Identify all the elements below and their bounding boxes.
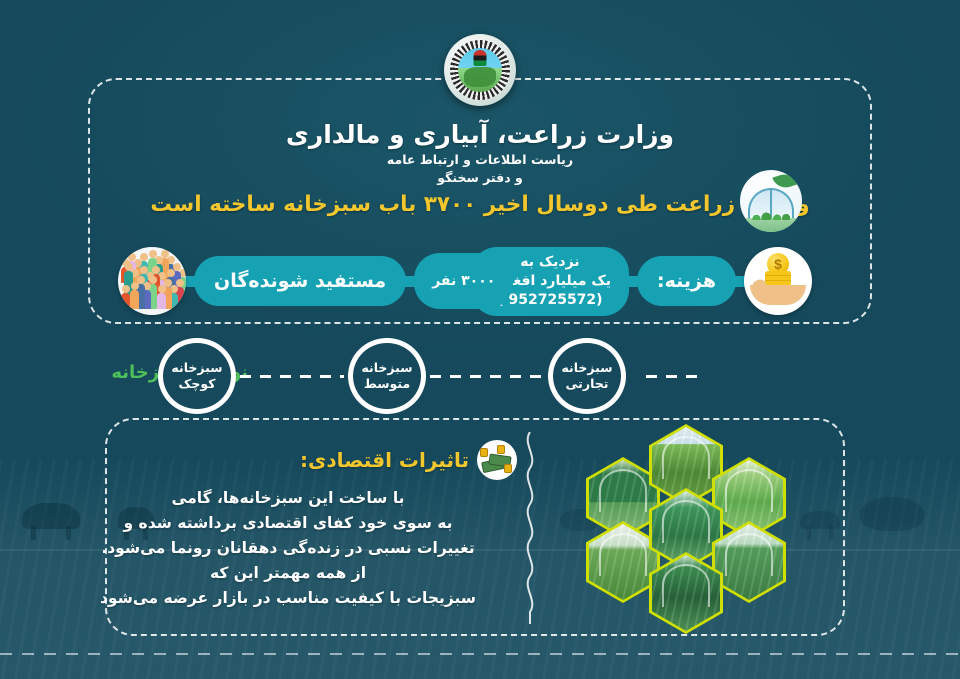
hand-shape [750,285,806,305]
greenhouse-photo-bottom-right [712,521,786,603]
coin-shape [504,464,512,473]
impact-line: از همه مهمتر این که [78,561,498,586]
cost-label: هزینه: [637,256,736,306]
impact-line: به سوی خود کفای اقتصادی برداشته شده و [78,511,498,536]
greenhouse-type-small[interactable]: سبزخانه کوچک [158,338,236,414]
photo-image [589,524,657,600]
background-tree-silhouette [860,497,924,531]
emblem-wheat-ring [450,40,510,100]
type-line-1: سبزخانه [561,360,612,376]
type-line-1: سبزخانه [171,360,222,376]
photo-image [715,524,783,600]
person-figure [121,293,130,309]
dashed-connector [646,375,698,378]
money-bundle-icon [477,440,517,480]
coin-shape [480,448,488,457]
cost-value-line-1: نزدیک به [520,253,579,272]
ministry-emblem-icon [444,34,516,106]
beneficiaries-value: ۳۰۰۰ نفر [414,253,513,309]
dashed-connector [240,375,344,378]
type-line-2: تجارتی [566,376,609,392]
person-figure [130,290,139,309]
headline: وزارت زراعت طی دوسال اخیر ۳۷۰۰ باب سبزخا… [0,192,960,217]
stat-row-beneficiaries: ۳۰۰۰ نفر مستفید شونده‌گان [118,247,513,315]
beneficiaries-label: مستفید شونده‌گان [194,256,406,306]
infographic-canvas: وزارت زراعت، آبیاری و مالداری ریاست اطلا… [0,0,960,679]
impact-body: با ساخت این سبزخانه‌ها، گامی به سوی خود … [78,486,498,612]
greenhouse-icon [740,170,802,232]
stat-row-cost: $ هزینه: نزدیک به یک میلیارد افغانی ( 95… [471,247,812,316]
impact-heading: تاثیرات اقتصادی: [300,440,517,480]
type-line-2: کوچک [179,376,216,392]
dashed-connector [430,375,542,378]
background-cow-silhouette [22,503,80,529]
type-line-2: متوسط [364,376,410,392]
plants-shape [752,208,790,220]
impact-line: سبزیجات با کیفیت مناسب در بازار عرضه می‌… [78,586,498,611]
header-block: وزارت زراعت، آبیاری و مالداری ریاست اطلا… [0,120,960,185]
ground-shape [740,218,802,232]
department-line-1: ریاست اطلاعات و ارتباط عامه [0,152,960,167]
department-line-2: و دفتر سخنگو [0,170,960,185]
impact-title: تاثیرات اقتصادی: [300,448,469,472]
impact-line: تغییرات نسبی در زنده‌گی دهقانان رونما می… [78,536,498,561]
greenhouse-photo-bottom [649,552,723,634]
greenhouse-type-row: نوعیت سبزخانه سبزخانه تجارتی سبزخانه متو… [0,338,960,414]
bottom-dashed-strip [0,653,960,655]
impact-line: با ساخت این سبزخانه‌ها، گامی [78,486,498,511]
greenhouse-type-commercial[interactable]: سبزخانه تجارتی [548,338,626,414]
crowd-of-people-icon [118,247,186,315]
emblem-core [458,48,502,92]
coin-shape [497,445,505,454]
emblem-map [464,67,496,87]
wavy-divider-icon [520,432,540,624]
greenhouse-photo-bottom-left [586,521,660,603]
emblem-flag-mihrab [474,50,487,66]
greenhouse-type-medium[interactable]: سبزخانه متوسط [348,338,426,414]
person-figure [157,293,166,309]
greenhouse-photo-cluster [578,424,794,634]
money-in-hand-icon: $ [744,247,812,315]
ministry-title: وزارت زراعت، آبیاری و مالداری [0,120,960,149]
type-line-1: سبزخانه [361,360,412,376]
emblem-outer-ring [444,34,516,106]
photo-image [652,555,720,631]
beneficiaries-count: ۳۰۰۰ نفر [432,272,495,291]
